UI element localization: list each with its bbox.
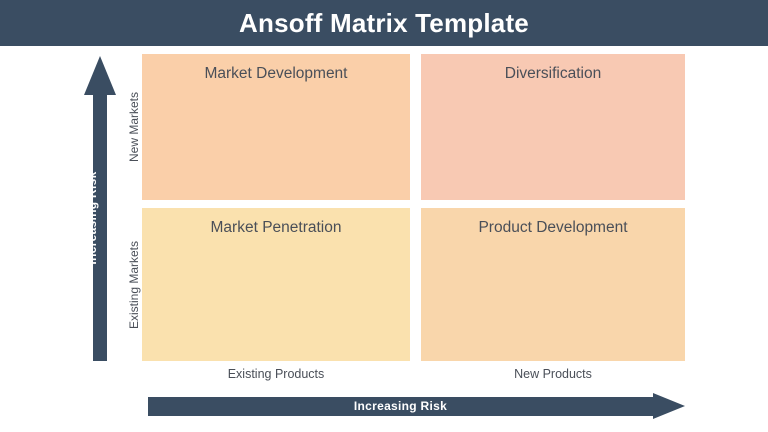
row-label-existing-markets: Existing Markets <box>127 215 141 355</box>
quadrant-market-development[interactable]: Market Development <box>142 54 410 200</box>
header-bar: Ansoff Matrix Template <box>0 0 768 46</box>
quadrant-label: Diversification <box>421 65 685 83</box>
horizontal-arrow-label: Increasing Risk <box>148 397 653 416</box>
column-label-new-products: New Products <box>421 367 685 381</box>
quadrant-label: Market Development <box>142 65 410 83</box>
vertical-risk-arrow: Increasing Risk <box>84 56 116 361</box>
horizontal-risk-arrow: Increasing Risk <box>148 393 685 420</box>
vertical-arrow-label: Increasing Risk <box>85 93 99 343</box>
quadrant-label: Product Development <box>421 219 685 237</box>
row-label-new-markets: New Markets <box>127 63 141 191</box>
quadrant-market-penetration[interactable]: Market Penetration <box>142 208 410 361</box>
quadrant-diversification[interactable]: Diversification <box>421 54 685 200</box>
column-label-existing-products: Existing Products <box>142 367 410 381</box>
quadrant-product-development[interactable]: Product Development <box>421 208 685 361</box>
ansoff-matrix-slide: Ansoff Matrix Template Increasing Risk N… <box>0 0 768 432</box>
page-title: Ansoff Matrix Template <box>0 0 768 46</box>
quadrant-label: Market Penetration <box>142 219 410 237</box>
arrow-right-icon <box>653 393 685 419</box>
arrow-up-icon <box>84 56 116 95</box>
